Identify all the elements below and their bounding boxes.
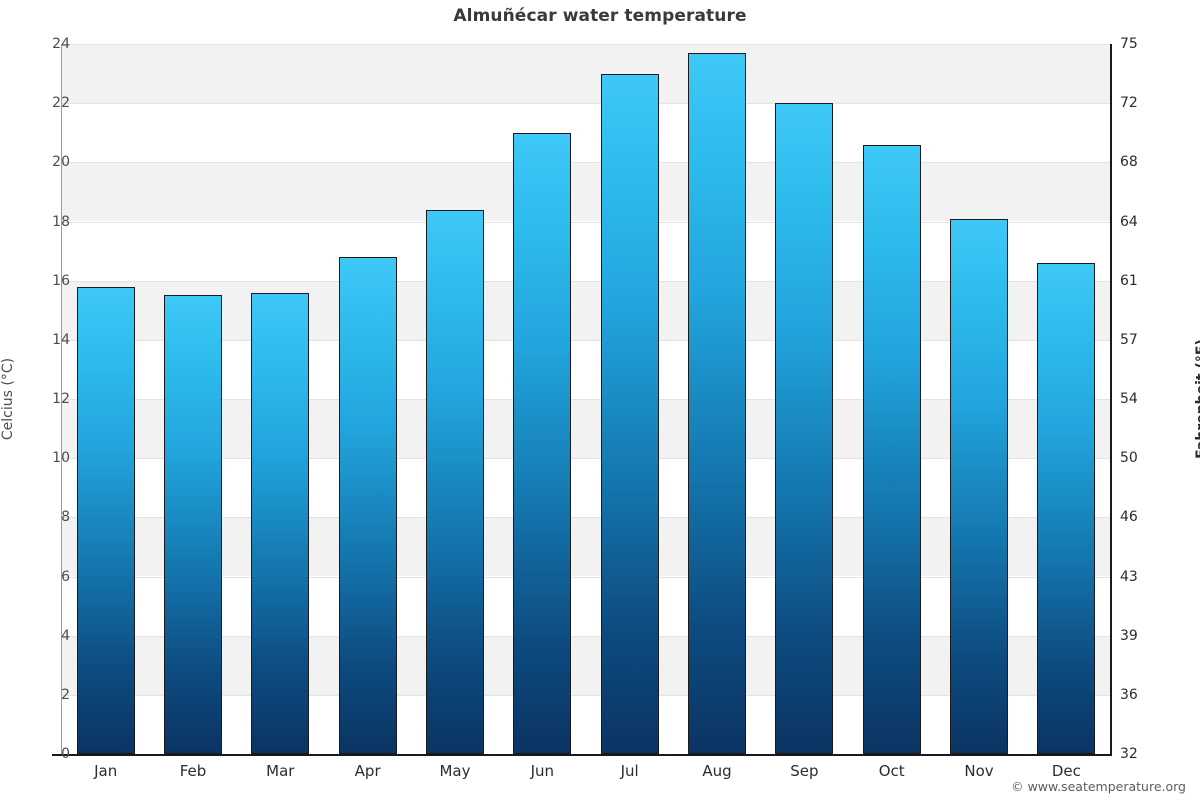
y-tick-right-label: 36 xyxy=(1120,687,1180,703)
y-tick-left-label: 16 xyxy=(10,273,70,289)
y-tick-right-label: 75 xyxy=(1120,36,1180,52)
chart-title: Almuñécar water temperature xyxy=(0,6,1200,26)
y-tick-left-label: 14 xyxy=(10,332,70,348)
x-tick-label-nov: Nov xyxy=(935,762,1023,780)
plot-area xyxy=(62,44,1110,754)
y-tick-left-label: 4 xyxy=(10,628,70,644)
y-tick-right-label: 50 xyxy=(1120,450,1180,466)
y-tick-right-label: 61 xyxy=(1120,273,1180,289)
y-tick-left-label: 24 xyxy=(10,36,70,52)
x-tick-label-jun: Jun xyxy=(498,762,586,780)
y-tick-left-label: 18 xyxy=(10,214,70,230)
x-tick-label-jan: Jan xyxy=(62,762,150,780)
y-tick-right-label: 32 xyxy=(1120,746,1180,762)
y-tick-right-label: 39 xyxy=(1120,628,1180,644)
y-tick-right-label: 43 xyxy=(1120,569,1180,585)
bar-mar[interactable] xyxy=(251,293,309,755)
y-tick-left-label: 20 xyxy=(10,154,70,170)
y-tick-left-label: 8 xyxy=(10,509,70,525)
y-tick-left-label: 12 xyxy=(10,391,70,407)
bar-jan[interactable] xyxy=(77,287,135,754)
y-axis-left-title: Celcius (°C) xyxy=(0,299,16,499)
y-tick-left-label: 22 xyxy=(10,95,70,111)
y-tick-right-label: 57 xyxy=(1120,332,1180,348)
y-axis-right-line xyxy=(1110,44,1112,755)
x-tick-label-sep: Sep xyxy=(760,762,848,780)
bar-sep[interactable] xyxy=(775,103,833,754)
bar-aug[interactable] xyxy=(688,53,746,754)
x-tick-label-mar: Mar xyxy=(236,762,324,780)
y-tick-right-label: 54 xyxy=(1120,391,1180,407)
bar-oct[interactable] xyxy=(863,145,921,754)
x-tick-label-oct: Oct xyxy=(848,762,936,780)
y-tick-right-label: 64 xyxy=(1120,214,1180,230)
x-tick-label-dec: Dec xyxy=(1022,762,1110,780)
x-tick-label-feb: Feb xyxy=(149,762,237,780)
y-tick-left-label: 0 xyxy=(10,746,70,762)
y-tick-right-label: 46 xyxy=(1120,509,1180,525)
y-axis-right-title: Fahrenheit (°F) xyxy=(1194,279,1200,519)
bars-group xyxy=(62,44,1110,754)
y-tick-right-label: 72 xyxy=(1120,95,1180,111)
x-tick-label-aug: Aug xyxy=(673,762,761,780)
y-tick-left-label: 6 xyxy=(10,569,70,585)
bar-jul[interactable] xyxy=(601,74,659,754)
bar-dec[interactable] xyxy=(1037,263,1095,754)
x-tick-label-may: May xyxy=(411,762,499,780)
bar-nov[interactable] xyxy=(950,219,1008,754)
x-tick-label-apr: Apr xyxy=(324,762,412,780)
bar-apr[interactable] xyxy=(339,257,397,754)
bar-jun[interactable] xyxy=(513,133,571,754)
y-tick-right-label: 68 xyxy=(1120,154,1180,170)
bar-feb[interactable] xyxy=(164,295,222,754)
copyright-notice: © www.seatemperature.org xyxy=(1011,779,1186,794)
x-axis-line xyxy=(52,754,1112,756)
x-tick-label-jul: Jul xyxy=(586,762,674,780)
water-temperature-chart: Almuñécar water temperature 024681012141… xyxy=(0,0,1200,800)
y-tick-left-label: 10 xyxy=(10,450,70,466)
bar-may[interactable] xyxy=(426,210,484,754)
y-tick-left-label: 2 xyxy=(10,687,70,703)
